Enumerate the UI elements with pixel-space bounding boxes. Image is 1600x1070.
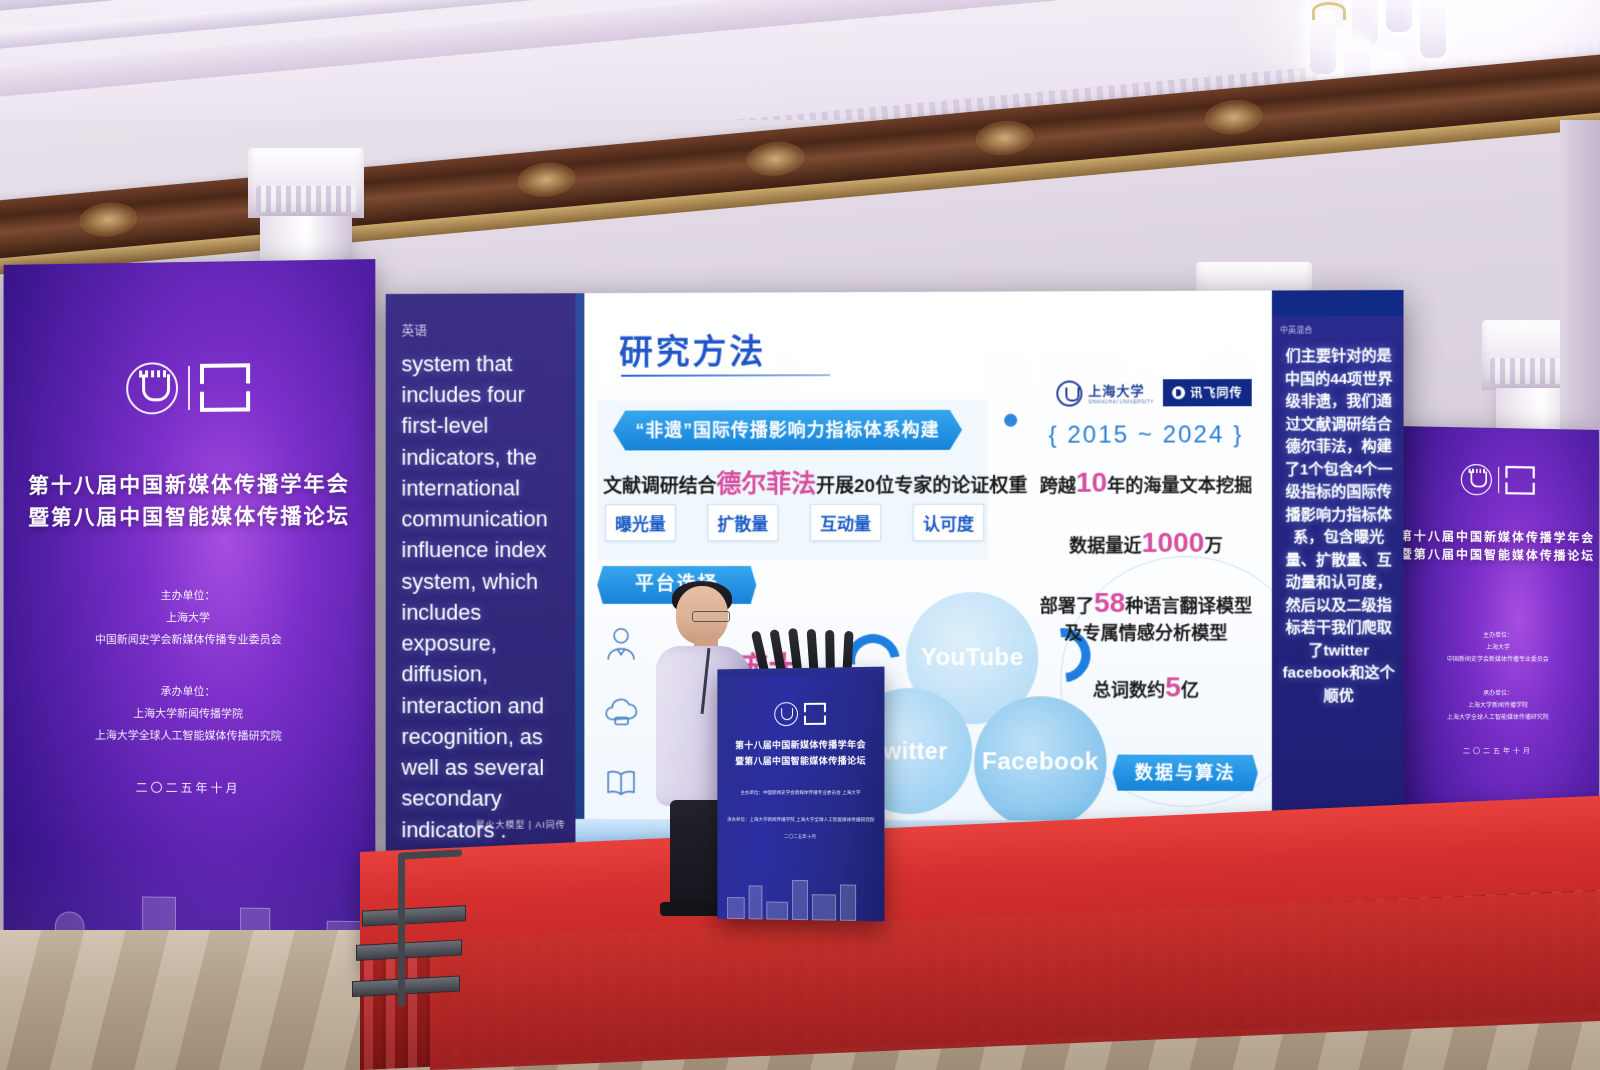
banner-title-line2: 暨第八届中国智能媒体传播论坛 xyxy=(4,500,376,533)
pillar-capital xyxy=(248,148,364,218)
podium-meta-1: 主办单位：中国新闻史学会新媒体传播专业委员会 上海大学 xyxy=(717,787,884,796)
stat-number: 58 xyxy=(1094,587,1125,618)
slide-title-underline xyxy=(621,374,830,377)
forum-logo-icon xyxy=(200,363,250,412)
forum-logo-icon xyxy=(1505,466,1535,495)
podium-title-line1: 第十八届中国新媒体传播学年会 xyxy=(717,737,884,754)
book-icon xyxy=(601,763,641,803)
year-range: { 2015 ~ 2024 } xyxy=(1026,421,1266,450)
shanghai-university-logo-icon xyxy=(774,702,798,726)
logo-divider xyxy=(188,366,190,410)
conference-hall-scene: 第十八届中国新媒体传播学年会 暨第八届中国智能媒体传播论坛 主办单位： 上海大学… xyxy=(0,0,1600,1067)
speaker-shoe xyxy=(660,902,722,916)
banner-title-line2: 暨第八届中国智能媒体传播论坛 xyxy=(1395,545,1599,565)
podium-meta-2: 承办单位：上海大学新闻传播学院 上海大学全球人工智能媒体传播研究院 xyxy=(717,814,884,824)
stat-number: 5 xyxy=(1165,671,1181,702)
speaker-podium: 第十八届中国新媒体传播学年会 暨第八届中国智能媒体传播论坛 主办单位：中国新闻史… xyxy=(717,667,884,922)
university-name-en: SHANGHAI UNIVERSITY xyxy=(1088,399,1154,405)
chevron-indicator-system: “非遗”国际传播影响力指标体系构建 xyxy=(613,410,962,451)
indicator-chip: 互动量 xyxy=(810,504,881,541)
stat-line-decade: 跨越10年的海量文本挖掘 xyxy=(1026,463,1266,501)
stat-suffix: 年的海量文本挖掘 xyxy=(1107,476,1252,496)
shanghai-university-logo-icon xyxy=(1461,464,1492,496)
organizer-2: 上海大学全球人工智能媒体传播研究院 xyxy=(1395,712,1599,725)
subtitle-panel-header xyxy=(1272,290,1404,317)
delphi-method-line: 文献调研结合德尔菲法开展20位专家的论证权重 xyxy=(603,464,984,500)
stat-suffix: 种语言翻译模型 xyxy=(1125,596,1252,616)
event-logo-lockup xyxy=(4,360,376,416)
indicator-chip-row: 曝光量 扩散量 互动量 认可度 xyxy=(605,504,984,541)
stage-steps xyxy=(352,905,472,1029)
subtitle-text-english: system that includes four first-level in… xyxy=(401,348,561,845)
university-name: 上海大学 xyxy=(1088,380,1154,399)
organizer-1: 上海大学新闻传播学院 xyxy=(4,702,376,725)
organizer-label: 承办单位： xyxy=(4,681,376,704)
host-2: 中国新闻史学会新媒体传播专业委员会 xyxy=(1395,654,1599,666)
stat-prefix: 部署了 xyxy=(1040,596,1094,616)
shanghai-university-logo-icon xyxy=(126,362,178,414)
host-label: 主办单位： xyxy=(4,585,376,608)
delphi-highlight: 德尔菲法 xyxy=(716,470,816,498)
delphi-suffix: 开展20位专家的论证权重 xyxy=(816,476,1027,497)
stat-number: 10 xyxy=(1076,467,1107,498)
slide-title: 研究方法 xyxy=(619,324,766,373)
stat-number: 1000 xyxy=(1142,527,1205,558)
stat-line-sentiment: 及专属情感分析模型 xyxy=(1026,621,1266,646)
statistics-block: { 2015 ~ 2024 } 跨越10年的海量文本挖掘 数据量近1000万 部… xyxy=(1026,421,1266,728)
banner-date: 二〇二五年十月 xyxy=(1395,745,1599,756)
subtitle-text-chinese: 们主要针对的是中国的44项世界级非遗，我们通过文献调研结合德尔菲法，构建了1个包… xyxy=(1280,345,1397,708)
slide-logo-group: 上海大学 SHANGHAI UNIVERSITY 讯飞同传 xyxy=(1056,379,1252,407)
indicator-chip: 认可度 xyxy=(913,504,984,541)
glasses-icon xyxy=(692,611,730,622)
stat-line-languages: 部署了58种语言翻译模型 及专属情感分析模型 xyxy=(1026,584,1266,646)
banner-date: 二〇二五年十月 xyxy=(4,778,376,798)
podium-date: 二〇二五年十月 xyxy=(717,833,884,840)
delphi-prefix: 文献调研结合 xyxy=(603,476,716,497)
slide-accent-bar xyxy=(575,293,584,853)
banner-title-line1: 第十八届中国新媒体传播学年会 xyxy=(1395,527,1599,547)
host-1: 上海大学 xyxy=(4,607,376,629)
university-crest-icon xyxy=(1056,380,1082,406)
cloud-database-icon xyxy=(601,694,641,734)
podium-skyline-graphic xyxy=(717,867,884,921)
chevron-data-algorithm: 数据与算法 xyxy=(1113,755,1258,792)
expert-icon xyxy=(601,624,641,664)
podium-title-line2: 暨第八届中国智能媒体传播论坛 xyxy=(717,753,884,769)
stat-suffix: 万 xyxy=(1204,536,1222,556)
host-2: 中国新闻史学会新媒体传播专业委员会 xyxy=(4,629,376,651)
iflytek-name: 讯飞同传 xyxy=(1190,384,1242,401)
step-railing xyxy=(398,856,405,1006)
stat-prefix: 总词数约 xyxy=(1093,680,1165,700)
forum-logo-icon xyxy=(804,703,826,725)
indicator-chip: 曝光量 xyxy=(605,504,675,541)
led-presentation-screen: 英语 system that includes four first-level… xyxy=(386,290,1404,856)
logo-divider xyxy=(1498,467,1499,493)
iflytek-mark-icon xyxy=(1172,386,1185,399)
stat-line-volume: 数据量近1000万 xyxy=(1026,524,1266,562)
subtitle-language-tag: 英语 xyxy=(401,319,561,338)
host-label: 主办单位： xyxy=(1395,630,1599,643)
organizer-2: 上海大学全球人工智能媒体传播研究院 xyxy=(4,724,376,748)
decorative-dot xyxy=(1004,414,1017,427)
shanghai-university-logo: 上海大学 SHANGHAI UNIVERSITY xyxy=(1056,380,1154,406)
podium-logo-lockup xyxy=(717,701,884,727)
iflytek-logo: 讯飞同传 xyxy=(1163,379,1252,406)
stat-suffix: 亿 xyxy=(1181,680,1199,700)
event-logo-lockup xyxy=(1437,463,1559,496)
stat-line-words: 总词数约5亿 xyxy=(1026,668,1266,706)
backdrop-banner-left: 第十八届中国新媒体传播学年会 暨第八届中国智能媒体传播论坛 主办单位： 上海大学… xyxy=(4,259,376,1000)
method-icon-column xyxy=(601,624,641,803)
subtitle-language-tag: 中英混合 xyxy=(1280,324,1397,335)
ai-subtitle-panel-chinese: 中英混合 们主要针对的是中国的44项世界级非遗，我们通过文献调研结合德尔菲法，构… xyxy=(1272,290,1404,856)
ai-watermark: 星火大模型 | AI同传 xyxy=(476,818,566,831)
ai-subtitle-panel-english: 英语 system that includes four first-level… xyxy=(386,293,576,853)
host-1: 上海大学 xyxy=(1395,642,1599,654)
organizer-label: 承办单位： xyxy=(1395,688,1599,700)
indicator-chip: 扩散量 xyxy=(708,504,779,541)
stat-prefix: 数据量近 xyxy=(1069,536,1141,556)
banner-title-line1: 第十八届中国新媒体传播学年会 xyxy=(4,469,376,503)
organizer-1: 上海大学新闻传播学院 xyxy=(1395,700,1599,712)
stat-prefix: 跨越 xyxy=(1040,476,1076,496)
